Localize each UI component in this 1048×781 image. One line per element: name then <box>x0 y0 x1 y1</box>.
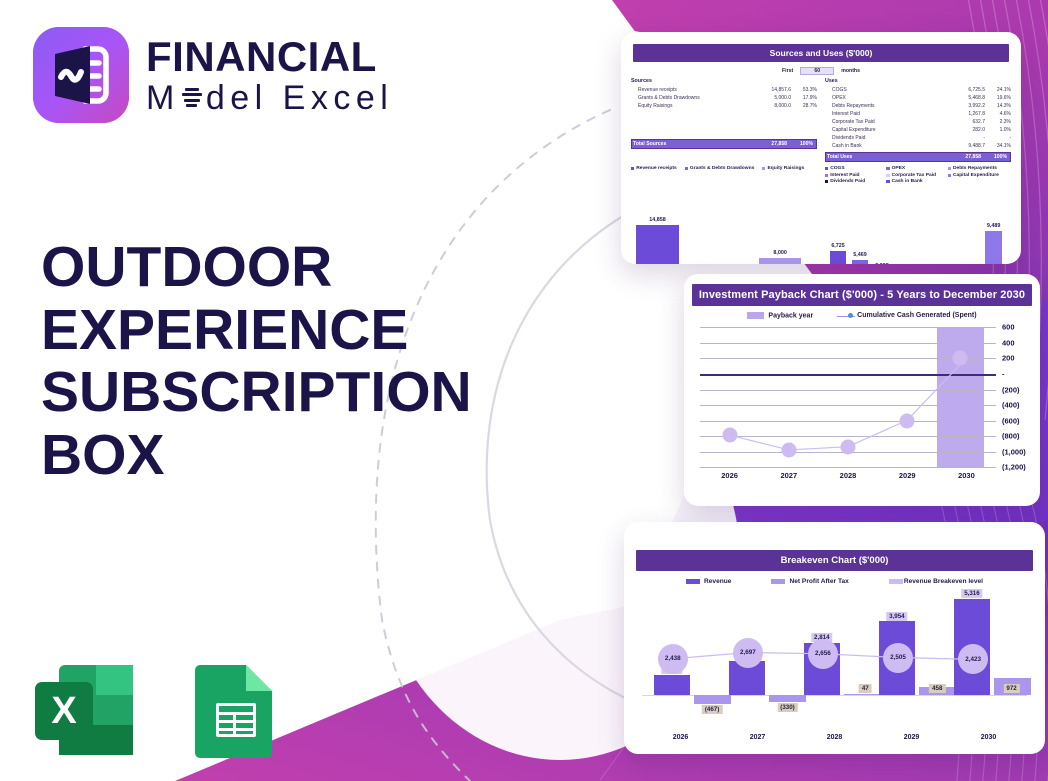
row-label: Equity Raisings <box>638 102 757 110</box>
row-pct: 24.1% <box>985 86 1011 94</box>
row-pct: 53.3% <box>791 86 817 94</box>
breakeven-point: 2,697 <box>733 638 763 668</box>
x-axis-tick: 2026 <box>700 471 759 480</box>
breakeven-chart-legend: Revenue Net Profit After Tax Revenue Bre… <box>624 578 1045 585</box>
y-axis-tick: (1,000) <box>1002 447 1026 456</box>
legend-label: Payback year <box>768 312 813 319</box>
row-amount: 282.0 <box>951 126 985 134</box>
bar: 6,725 <box>830 251 846 264</box>
row-label: Capital Expenditure <box>832 126 951 134</box>
breakeven-point: 2,438 <box>658 644 688 674</box>
row-pct: 34.1% <box>985 142 1011 150</box>
total-pct: 100% <box>787 141 813 147</box>
x-axis-tick: 2026 <box>642 734 719 741</box>
x-axis-tick: 2028 <box>818 471 877 480</box>
legend-item-npat: Net Profit After Tax <box>771 578 848 585</box>
legend-item: Grants & Debts Drawdowns <box>685 166 755 171</box>
legend-item-payback-year: Payback year <box>747 312 813 319</box>
y-axis-tick: (600) <box>1002 416 1020 425</box>
legend-label: OPEX <box>892 166 906 171</box>
legend-item: Corporate Tax Paid <box>886 173 947 178</box>
breakeven-plot-area: 1,140 (467) 1,848 (330) 2,814 47 3,954 4… <box>642 595 1027 720</box>
row-pct: - <box>985 134 1011 142</box>
data-point <box>781 443 796 458</box>
legend-label: COGS <box>830 166 844 171</box>
bar-value-label: 5,469 <box>853 252 867 258</box>
y-axis-tick: (400) <box>1002 401 1020 410</box>
row-amount: 5,468.8 <box>951 94 985 102</box>
row-label: Debts Repayments <box>832 102 951 110</box>
legend-swatch <box>686 579 700 584</box>
table-row: Debts Repayments 3,992.2 14.3% <box>825 102 1011 110</box>
legend-item-breakeven-level: Revenue Breakeven level <box>889 578 983 585</box>
bar: 8,000 <box>759 258 801 264</box>
legend-item-cumulative-cash: Cumulative Cash Generated (Spent) <box>837 312 976 319</box>
row-pct: 19.6% <box>985 94 1011 102</box>
legend-label: Corporate Tax Paid <box>892 173 936 178</box>
legend-item: Dividends Paid <box>825 179 886 184</box>
row-amount: 9,488.7 <box>951 142 985 150</box>
bar-value-label: 8,000 <box>773 250 787 256</box>
page-title-line-2: EXPERIENCE <box>41 299 511 362</box>
y-axis-tick: (200) <box>1002 385 1020 394</box>
legend-item: Revenue receipts <box>631 166 677 171</box>
row-amount: 14,857.6 <box>757 86 791 94</box>
sources-total-row: Total Sources 27,858 100% <box>631 139 817 149</box>
legend-item-revenue: Revenue <box>686 578 732 585</box>
period-suffix: months <box>841 68 860 74</box>
row-label: Cash in Bank <box>832 142 951 150</box>
x-axis-tick: 2029 <box>878 471 937 480</box>
data-point <box>841 440 856 455</box>
period-prefix: First <box>782 68 793 74</box>
legend-item: Capital Expenditure <box>948 173 1011 178</box>
bar: 9,489 <box>985 231 1001 264</box>
legend-swatch <box>747 312 764 319</box>
spacer <box>631 110 817 119</box>
google-sheets-icon <box>182 661 286 759</box>
uses-column: Uses COGS 6,725.5 24.1% OPEX 5,468.8 19.… <box>825 78 1011 162</box>
legend-label: Equity Raisings <box>767 166 804 171</box>
uses-header: Uses <box>825 78 1011 84</box>
row-pct: 4.6% <box>985 110 1011 118</box>
legend-label: Grants & Debts Drawdowns <box>690 166 754 171</box>
spacer <box>631 128 817 137</box>
period-selector-row: First 60 months <box>621 67 1021 75</box>
financial-model-logo-icon <box>33 27 129 123</box>
card-sources-and-uses[interactable]: Sources and Uses ($'000) First 60 months… <box>621 32 1021 264</box>
brand-name-bottom: M del Excel <box>146 81 393 115</box>
brand-name-top: FINANCIAL <box>146 36 393 78</box>
legend-label: Net Profit After Tax <box>789 578 848 585</box>
slide-canvas: FINANCIAL M del Excel OUTDOOR EXPERIENCE… <box>0 0 1048 781</box>
table-row: Dividends Paid - - <box>825 134 1011 142</box>
spacer <box>631 119 817 128</box>
legend-label: Cash in Bank <box>892 179 923 184</box>
x-axis-tick: 2028 <box>796 734 873 741</box>
breakeven-point: 2,423 <box>958 644 988 674</box>
row-amount: 632.7 <box>951 118 985 126</box>
table-row: OPEX 5,468.8 19.6% <box>825 94 1011 102</box>
legend-label: Debts Repayments <box>953 166 997 171</box>
row-pct: 28.7% <box>791 102 817 110</box>
legend-label: Cumulative Cash Generated (Spent) <box>857 312 976 319</box>
y-axis-tick: (1,200) <box>1002 463 1026 472</box>
breakeven-point: 2,656 <box>808 639 838 669</box>
table-row: Revenue receipts 14,857.6 53.3% <box>631 86 817 94</box>
brand-name-bottom-pre: M <box>146 81 180 115</box>
page-title: OUTDOOR EXPERIENCE SUBSCRIPTION BOX <box>41 236 511 487</box>
table-row: COGS 6,725.5 24.1% <box>825 86 1011 94</box>
row-pct: 2.3% <box>985 118 1011 126</box>
row-amount: 3,992.2 <box>951 102 985 110</box>
uses-chart-legend: COGS OPEX Debts Repayments Interest Paid… <box>825 166 1011 186</box>
breakeven-point: 2,505 <box>883 643 913 673</box>
row-amount: 5,000.0 <box>757 94 791 102</box>
table-row: Grants & Debts Drawdowns 5,000.0 17.9% <box>631 94 817 102</box>
x-axis-tick: 2030 <box>937 471 996 480</box>
row-label: Dividends Paid <box>832 134 951 142</box>
card-breakeven-chart[interactable]: Breakeven Chart ($'000) Revenue Net Prof… <box>624 522 1045 754</box>
page-title-line-1: OUTDOOR <box>41 236 511 299</box>
microsoft-excel-icon: X <box>32 661 136 759</box>
legend-label: Revenue receipts <box>636 166 677 171</box>
row-label: Revenue receipts <box>638 86 757 94</box>
legend-swatch-line <box>889 579 903 584</box>
total-label: Total Uses <box>827 154 947 160</box>
payback-x-axis-labels: 2026 2027 2028 2029 2030 <box>700 471 996 480</box>
breakeven-x-axis-labels: 2026 2027 2028 2029 2030 <box>642 734 1027 741</box>
row-pct: 1.0% <box>985 126 1011 134</box>
row-label: OPEX <box>832 94 951 102</box>
legend-label: Interest Paid <box>830 173 859 178</box>
bar-value-label: 9,489 <box>987 223 1001 229</box>
x-axis-tick: 2027 <box>759 471 818 480</box>
page-title-line-4: BOX <box>41 424 511 487</box>
legend-label: Revenue Breakeven level <box>904 578 983 585</box>
bar-value-label: 6,725 <box>831 243 845 249</box>
payback-chart-title: Investment Payback Chart ($'000) - 5 Yea… <box>692 284 1032 306</box>
row-pct: 17.9% <box>791 94 817 102</box>
x-axis-tick: 2030 <box>950 734 1027 741</box>
sources-chart-legend: Revenue receipts Grants & Debts Drawdown… <box>631 166 817 173</box>
x-axis-tick: 2029 <box>873 734 950 741</box>
row-amount: - <box>951 134 985 142</box>
data-point <box>900 413 915 428</box>
row-amount: 1,267.8 <box>951 110 985 118</box>
table-row: Cash in Bank 9,488.7 34.1% <box>825 142 1011 150</box>
total-amount: 27,858 <box>753 141 787 147</box>
app-format-icons: X <box>32 661 286 759</box>
legend-item: Cash in Bank <box>886 179 947 184</box>
row-amount: 8,000.0 <box>757 102 791 110</box>
legend-label: Capital Expenditure <box>953 173 999 178</box>
table-row: Capital Expenditure 282.0 1.0% <box>825 126 1011 134</box>
legend-item: Equity Raisings <box>762 166 804 171</box>
sources-column: Sources Revenue receipts 14,857.6 53.3% … <box>631 78 817 162</box>
table-row: Corporate Tax Paid 632.7 2.3% <box>825 118 1011 126</box>
y-axis-tick: - <box>1002 369 1005 378</box>
row-label: Corporate Tax Paid <box>832 118 951 126</box>
payback-plot-area: 600 400 200 - (200) (400) (600) (800) (1… <box>700 327 996 467</box>
row-label: Grants & Debts Drawdowns <box>638 94 757 102</box>
bar: 14,858 <box>636 225 678 264</box>
row-amount: 6,725.5 <box>951 86 985 94</box>
total-label: Total Sources <box>633 141 753 147</box>
row-pct: 14.3% <box>985 102 1011 110</box>
period-months-input[interactable]: 60 <box>800 67 834 75</box>
row-label: COGS <box>832 86 951 94</box>
x-axis-tick: 2027 <box>719 734 796 741</box>
legend-item: OPEX <box>886 166 947 171</box>
legend-item: Debts Repayments <box>948 166 1011 171</box>
legend-item: COGS <box>825 166 886 171</box>
uses-total-row: Total Uses 27,858 100% <box>825 152 1011 162</box>
card-investment-payback[interactable]: Investment Payback Chart ($'000) - 5 Yea… <box>684 274 1040 506</box>
y-axis-tick: (800) <box>1002 432 1020 441</box>
total-amount: 27,858 <box>947 154 981 160</box>
stacked-bars-icon <box>181 85 203 111</box>
y-axis-tick: 600 <box>1002 323 1015 332</box>
sources-header: Sources <box>631 78 817 84</box>
total-pct: 100% <box>981 154 1007 160</box>
brand-logo: FINANCIAL M del Excel <box>33 27 393 123</box>
y-axis-tick: 400 <box>1002 338 1015 347</box>
bar-value-label: 3,992 <box>875 263 889 264</box>
page-title-line-3: SUBSCRIPTION <box>41 361 511 424</box>
data-point <box>722 428 737 443</box>
legend-swatch <box>771 579 785 584</box>
data-point <box>953 351 968 366</box>
table-row: Equity Raisings 8,000.0 28.7% <box>631 102 817 110</box>
sources-bar-chart: 14,858 5,000 8,000 <box>631 194 814 264</box>
row-label: Interest Paid <box>832 110 951 118</box>
excel-letter: X <box>51 690 77 732</box>
breakeven-chart-title: Breakeven Chart ($'000) <box>636 550 1033 571</box>
payback-chart-legend: Payback year Cumulative Cash Generated (… <box>684 312 1040 319</box>
y-axis-tick: 200 <box>1002 354 1015 363</box>
legend-label: Revenue <box>704 578 732 585</box>
uses-bar-chart: 6,725 5,469 3,992 1,268 633 282 0 9,489 <box>828 194 1011 264</box>
bar: 5,469 <box>852 260 868 264</box>
sources-uses-title: Sources and Uses ($'000) <box>633 44 1009 62</box>
brand-name-bottom-post: del Excel <box>206 81 393 115</box>
bar-value-label: 14,858 <box>649 217 666 223</box>
gridline: (1,200) <box>700 467 996 468</box>
legend-label: Dividends Paid <box>830 179 865 184</box>
table-row: Interest Paid 1,267.8 4.6% <box>825 110 1011 118</box>
legend-item: Interest Paid <box>825 173 886 178</box>
